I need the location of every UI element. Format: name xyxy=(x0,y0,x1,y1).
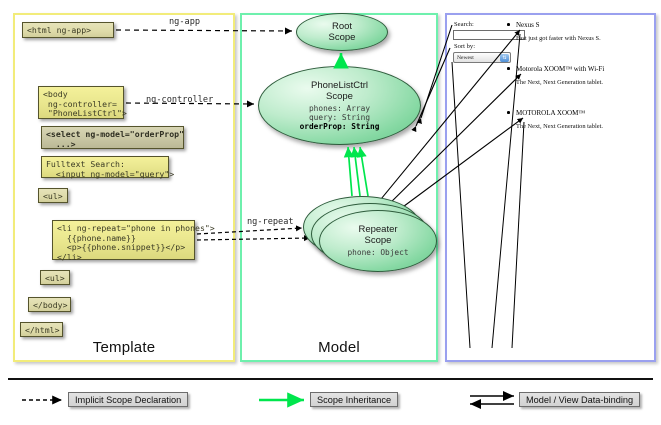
phone-snippet: Fast just got faster with Nexus S. xyxy=(516,35,645,42)
scope-root-title-line2: Scope xyxy=(329,32,356,43)
view-sort-selected-value: Newest xyxy=(457,55,474,61)
scope-ctrl-prop-phones: phones: Array xyxy=(300,104,380,113)
wire-label-ng-repeat: ng-repeat xyxy=(247,217,294,227)
scope-repeater-prop-phone: phone: Object xyxy=(347,248,408,257)
bullet-icon xyxy=(507,111,510,114)
view-search-label: Search: xyxy=(454,21,474,28)
legend-item-model-view-data-binding: Model / View Data-binding xyxy=(519,392,640,407)
scope-ellipse-phonelistctrl: PhoneListCtrlScope phones: Array query: … xyxy=(258,66,421,145)
wire-label-ng-app: ng-app xyxy=(169,17,200,27)
scope-repeater-properties: phone: Object xyxy=(347,248,408,257)
chevron-updown-icon[interactable]: ⇅ xyxy=(500,54,509,62)
phone-name: Motorola XOOM™ with Wi-Fi xyxy=(516,65,645,73)
phone-snippet: The Next, Next Generation tablet. xyxy=(516,79,645,86)
code-box-body-close: </body> xyxy=(28,297,71,312)
phone-name: Nexus S xyxy=(516,21,645,29)
bullet-icon xyxy=(507,67,510,70)
list-item[interactable]: Nexus S Fast just got faster with Nexus … xyxy=(507,21,645,42)
phone-name: MOTOROLA XOOM™ xyxy=(516,109,645,117)
wire-label-ng-controller: ng-controller xyxy=(146,95,213,105)
scope-ellipse-root: RootScope xyxy=(296,13,388,51)
scope-root-title-line1: Root xyxy=(332,21,352,32)
code-box-html-close: </html> xyxy=(20,322,63,337)
scope-ctrl-title: PhoneListCtrlScope xyxy=(311,80,368,102)
scope-repeater-title-line2: Scope xyxy=(365,235,392,246)
scope-repeater-title-line1: Repeater xyxy=(358,224,397,235)
legend-divider xyxy=(8,378,653,380)
legend-item-implicit-scope-declaration: Implicit Scope Declaration xyxy=(68,392,188,407)
scope-ellipse-repeater: RepeaterScope phone: Object xyxy=(319,210,437,272)
code-box-ul-open: <ul> xyxy=(38,188,68,203)
list-item[interactable]: MOTOROLA XOOM™ The Next, Next Generation… xyxy=(507,109,645,130)
code-box-body-ng-controller: <body ng-controller= "PhoneListCtrl"> xyxy=(38,86,124,119)
scope-ctrl-prop-query: query: String xyxy=(300,113,380,122)
code-box-li-ng-repeat: <li ng-repeat="phone in phones"> {{phone… xyxy=(52,220,195,260)
scope-ctrl-properties: phones: Array query: String orderProp: S… xyxy=(300,104,380,132)
code-box-select-ng-model: <select ng-model="orderProp" ...> xyxy=(41,126,184,149)
scope-repeater-title: RepeaterScope xyxy=(358,224,397,246)
scope-root-title: RootScope xyxy=(329,21,356,43)
scope-ctrl-title-line1: PhoneListCtrl xyxy=(311,80,368,91)
scope-ctrl-title-line2: Scope xyxy=(326,91,353,102)
legend-item-scope-inheritance: Scope Inheritance xyxy=(310,392,398,407)
list-item[interactable]: Motorola XOOM™ with Wi-Fi The Next, Next… xyxy=(507,65,645,86)
phone-snippet: The Next, Next Generation tablet. xyxy=(516,123,645,130)
view-sort-select[interactable]: Newest ⇅ xyxy=(453,52,511,63)
scope-ctrl-prop-orderprop: orderProp: String xyxy=(300,122,380,131)
code-box-html-ng-app: <html ng-app> xyxy=(22,22,114,38)
diagram-canvas: Template Model View <html ng-app> <body … xyxy=(0,0,661,425)
panel-template-label: Template xyxy=(15,339,233,356)
code-box-fulltext-search: Fulltext Search: <input ng-model="query"… xyxy=(41,156,169,178)
view-sort-label: Sort by: xyxy=(454,43,475,50)
panel-model-label: Model xyxy=(242,339,436,356)
view-rendered-app: Search: Sort by: Newest ⇅ Nexus S Fast j… xyxy=(449,17,648,354)
bullet-icon xyxy=(507,23,510,26)
code-box-ul-close: <ul> xyxy=(40,270,70,285)
